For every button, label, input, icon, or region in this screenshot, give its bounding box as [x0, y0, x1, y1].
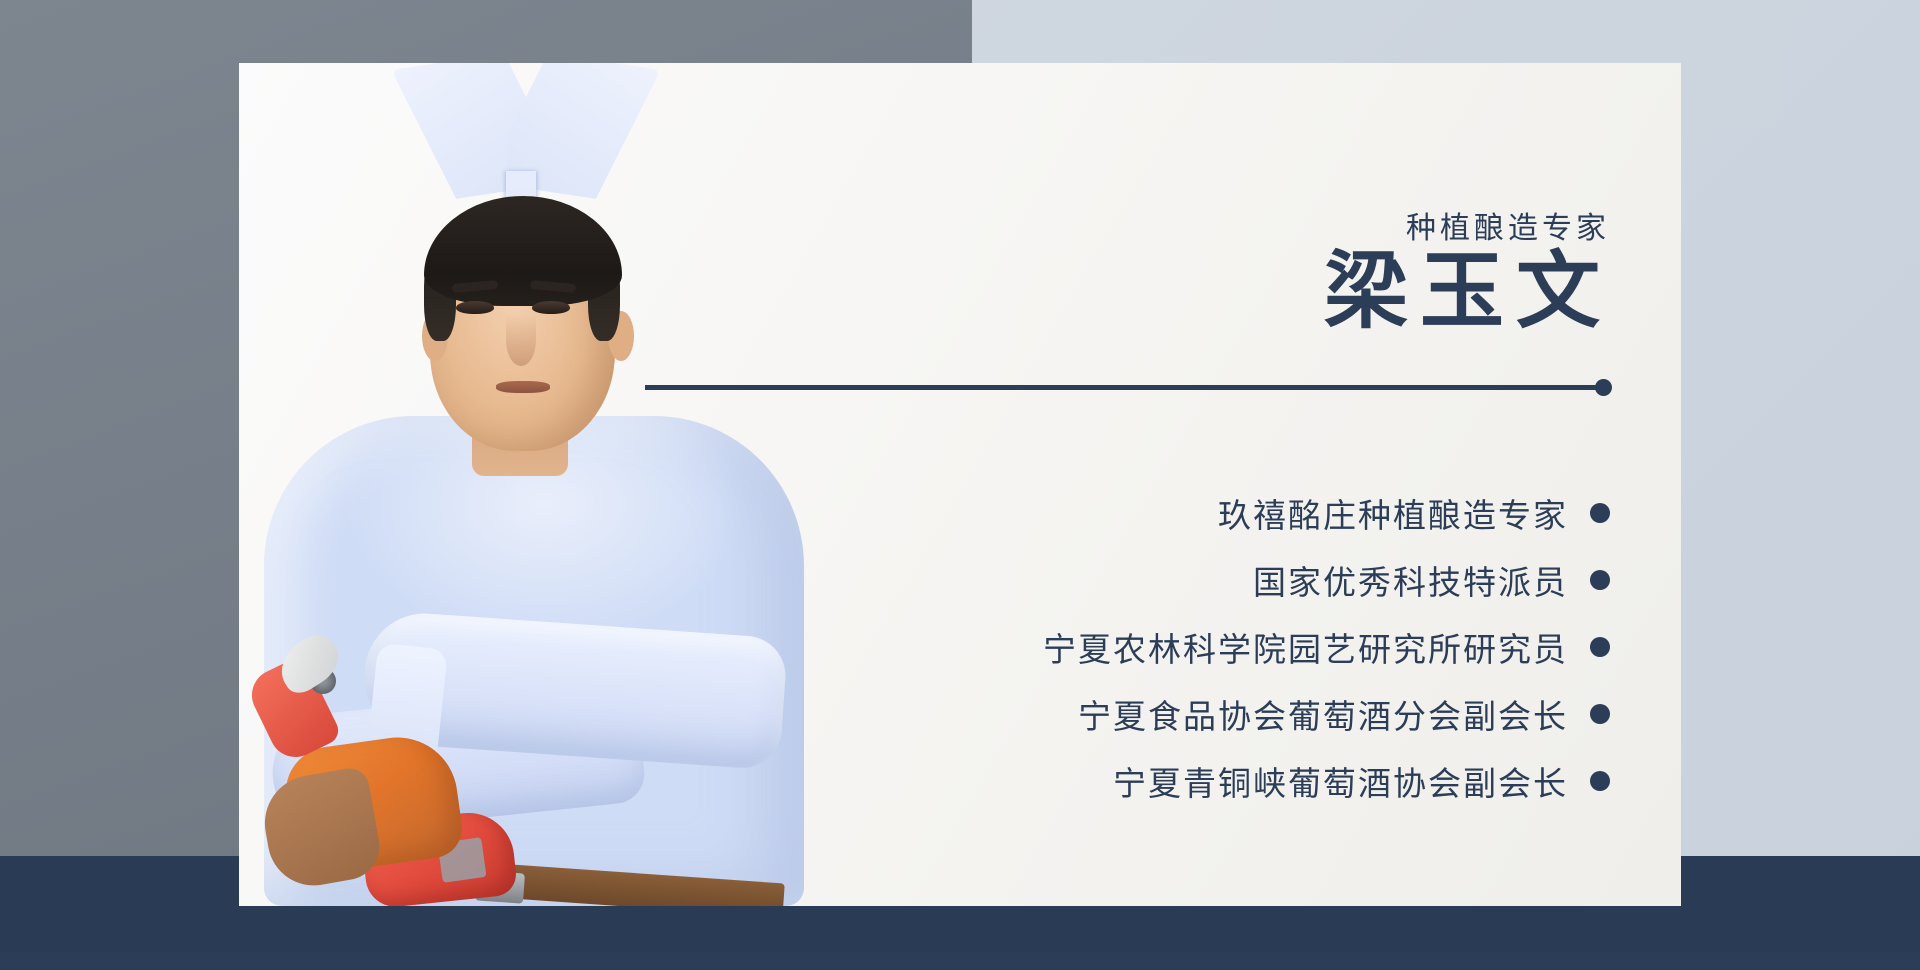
profile-name: 梁玉文 [1324, 249, 1612, 337]
background-navy-bottom-strip [0, 952, 1920, 970]
section-divider [645, 385, 1607, 390]
bullet-icon [1590, 503, 1610, 523]
credential-list: 玖禧酩庄种植酿造专家 国家优秀科技特派员 宁夏农林科学院园艺研究所研究员 宁夏食… [890, 479, 1610, 814]
bullet-icon [1590, 570, 1610, 590]
list-item: 宁夏青铜峡葡萄酒协会副会长 [890, 747, 1610, 814]
list-item: 玖禧酩庄种植酿造专家 [890, 479, 1610, 546]
list-item: 宁夏农林科学院园艺研究所研究员 [890, 613, 1610, 680]
list-item: 国家优秀科技特派员 [890, 546, 1610, 613]
bullet-icon [1590, 637, 1610, 657]
profile-subtitle: 种植酿造专家 [1406, 203, 1610, 247]
profile-text-column: 种植酿造专家 梁玉文 玖禧酩庄种植酿造专家 国家优秀科技特派员 宁夏农林科学院园… [900, 63, 1681, 906]
credential-label: 国家优秀科技特派员 [1253, 556, 1568, 604]
bullet-icon [1590, 704, 1610, 724]
list-item: 宁夏食品协会葡萄酒分会副会长 [890, 680, 1610, 747]
section-divider-dot [1595, 379, 1612, 396]
bullet-icon [1590, 771, 1610, 791]
credential-label: 宁夏农林科学院园艺研究所研究员 [1043, 623, 1568, 671]
credential-label: 宁夏青铜峡葡萄酒协会副会长 [1113, 757, 1568, 805]
credential-label: 玖禧酩庄种植酿造专家 [1218, 489, 1568, 537]
credential-label: 宁夏食品协会葡萄酒分会副会长 [1078, 690, 1568, 738]
poster-canvas: 种植酿造专家 梁玉文 玖禧酩庄种植酿造专家 国家优秀科技特派员 宁夏农林科学院园… [0, 0, 1920, 970]
